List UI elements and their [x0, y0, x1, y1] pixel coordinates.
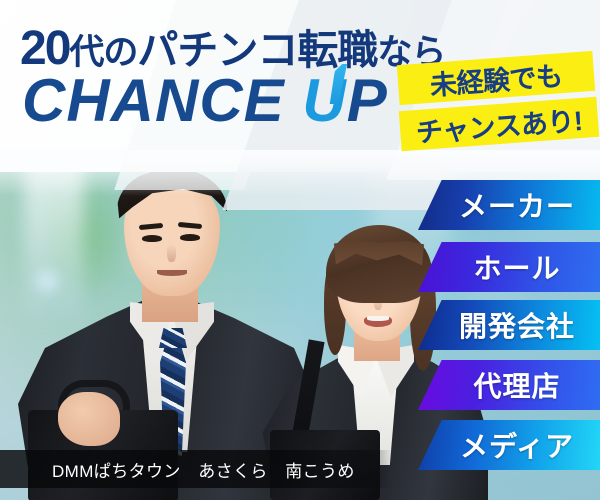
- category-button-maker[interactable]: メーカー: [418, 180, 600, 230]
- man-hand: [58, 392, 120, 446]
- category-button-media[interactable]: メディア: [418, 420, 600, 470]
- category-label-agency: 代理店: [457, 365, 560, 405]
- logo-p-text: P: [347, 67, 388, 134]
- man-eye-left: [142, 235, 162, 242]
- recruitment-banner[interactable]: 20代のパチンコ転職なら CHANCE UP 未経験でも チャンスあり! メーカ…: [0, 0, 600, 500]
- category-button-agency[interactable]: 代理店: [418, 360, 600, 410]
- logo-chance-text: CHANCE: [22, 67, 302, 134]
- chance-up-logo: CHANCE UP: [22, 66, 388, 135]
- man-eye-right: [180, 234, 200, 241]
- man-mouth: [157, 270, 187, 276]
- woman-teeth: [367, 316, 389, 321]
- category-label-hall: ホール: [457, 247, 560, 287]
- category-button-developer[interactable]: 開発会社: [418, 300, 600, 350]
- category-button-hall[interactable]: ホール: [418, 242, 600, 292]
- category-label-media: メディア: [444, 425, 574, 465]
- category-label-developer: 開発会社: [443, 305, 575, 345]
- logo-u-letter: U: [302, 66, 346, 135]
- credit-text: DMMぱちタウン あさくら 南こうめ: [52, 450, 355, 488]
- man-nose: [167, 244, 176, 262]
- man-tie-knot: [159, 328, 187, 348]
- category-label-maker: メーカー: [443, 185, 575, 225]
- woman-hair: [326, 225, 432, 303]
